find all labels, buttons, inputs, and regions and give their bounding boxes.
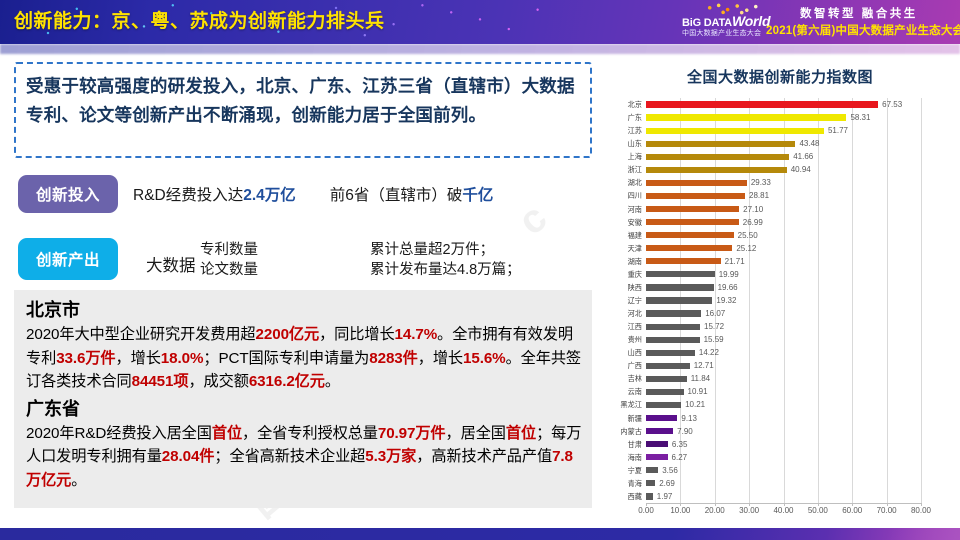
chart-bar-row: 湖北29.33 [600, 176, 960, 189]
chart-plot-area: 北京67.53广东58.31江苏51.77山东43.48上海41.66浙江40.… [600, 98, 960, 540]
region-detail-text: ，居全国 [446, 425, 506, 442]
chart-bar [646, 376, 687, 382]
chart-category-label: 湖南 [600, 255, 642, 268]
chart-bar-row: 江苏51.77 [600, 124, 960, 137]
chart-category-label: 内蒙古 [600, 425, 642, 438]
output-metric-papers: 论文数量 [200, 260, 258, 280]
chart-category-label: 新疆 [600, 412, 642, 425]
chart-bar-value: 26.99 [743, 216, 763, 229]
region-detail-highlight: 15.6% [463, 350, 506, 367]
chart-bar-value: 21.71 [725, 255, 745, 268]
output-keyword: 大数据 [146, 252, 196, 276]
chart-bar-value: 9.13 [681, 412, 697, 425]
region-detail-highlight: 6316.2亿元 [249, 373, 325, 390]
chart-title: 全国大数据创新能力指数图 [600, 66, 960, 87]
chart-bar [646, 232, 734, 238]
region-detail-highlight: 33.6万件 [56, 350, 115, 367]
region-detail-highlight: 首位 [506, 425, 536, 442]
chart-category-label: 重庆 [600, 268, 642, 281]
chart-bar-row: 辽宁19.32 [600, 294, 960, 307]
output-results-column: 累计总量超2万件； 累计发布量达4.8万篇； [370, 240, 521, 280]
chart-category-label: 云南 [600, 385, 642, 398]
chart-bar-value: 40.94 [791, 163, 811, 176]
chart-bar-value: 7.90 [677, 425, 693, 438]
chart-bar-value: 15.72 [704, 320, 724, 333]
chart-bar-row: 贵州15.59 [600, 333, 960, 346]
badge-innovation-investment: 创新投入 [18, 175, 118, 213]
region-detail-paragraph: 2020年R&D经费投入居全国首位，全省专利授权总量70.97万件，居全国首位；… [26, 422, 582, 493]
chart-bar-row: 广东58.31 [600, 111, 960, 124]
chart-category-label: 安徽 [600, 216, 642, 229]
investment-value-a: 2.4万亿 [243, 187, 296, 204]
logo-subtitle: 中国大数据产业生态大会 [682, 28, 761, 38]
chart-category-label: 湖北 [600, 176, 642, 189]
region-detail-heading: 北京市 [26, 298, 582, 322]
chart-bar-value: 29.33 [751, 176, 771, 189]
conference-slogan-line1: 数智转型 融合共生 [800, 5, 918, 21]
chart-category-label: 江西 [600, 320, 642, 333]
chart-bar-row: 山西14.22 [600, 346, 960, 359]
chart-tick-label: 10.00 [670, 506, 690, 515]
chart-bar-row: 上海41.66 [600, 150, 960, 163]
chart-bar-value: 25.50 [738, 229, 758, 242]
region-detail-text: 。 [325, 373, 340, 390]
chart-bar-value: 10.91 [688, 385, 708, 398]
chart-category-label: 山西 [600, 346, 642, 359]
conference-slogan-line2: 2021(第六届)中国大数据产业生态大会 [766, 22, 960, 38]
chart-bar-row: 吉林11.84 [600, 372, 960, 385]
chart-bar-value: 1.97 [657, 490, 673, 503]
region-detail-text: ，全省专利授权总量 [242, 425, 378, 442]
investment-summary-line: R&D经费投入达2.4万亿前6省（直辖市）破千亿 [133, 183, 493, 205]
chart-bar-row: 天津25.12 [600, 242, 960, 255]
chart-tick-label: 80.00 [911, 506, 931, 515]
output-metrics-column: 专利数量 论文数量 [200, 240, 258, 280]
chart-bar-row: 甘肃6.35 [600, 438, 960, 451]
chart-category-label: 上海 [600, 150, 642, 163]
output-result-papers: 累计发布量达4.8万篇； [370, 260, 521, 280]
chart-bar-value: 43.48 [799, 137, 819, 150]
chart-bar [646, 467, 658, 473]
chart-category-label: 四川 [600, 189, 642, 202]
region-detail-text: 2020年大中型企业研究开发费用超 [26, 326, 256, 343]
slide-header: 创新能力：京、粤、苏成为创新能力排头兵 BiG DATAWorld 中国大数据产… [0, 0, 960, 44]
region-detail-highlight: 8283件 [369, 350, 417, 367]
chart-bar [646, 480, 655, 486]
chart-bar-row: 海南6.27 [600, 451, 960, 464]
chart-bar-value: 16.07 [705, 307, 725, 320]
chart-bar-value: 10.21 [685, 398, 705, 411]
chart-bar-value: 28.81 [749, 189, 769, 202]
chart-category-label: 海南 [600, 451, 642, 464]
region-detail-highlight: 18.0% [161, 350, 204, 367]
chart-bar-value: 67.53 [882, 98, 902, 111]
chart-category-label: 河北 [600, 307, 642, 320]
chart-category-label: 北京 [600, 98, 642, 111]
region-detail-text: ；PCT国际专利申请量为 [203, 350, 369, 367]
chart-category-label: 甘肃 [600, 438, 642, 451]
region-detail-highlight: 5.3万家 [365, 448, 416, 465]
chart-bar-value: 3.56 [662, 464, 678, 477]
chart-category-label: 福建 [600, 229, 642, 242]
chart-bar-row: 湖南21.71 [600, 255, 960, 268]
chart-bar [646, 101, 878, 107]
chart-category-label: 山东 [600, 137, 642, 150]
chart-bar-value: 19.66 [718, 281, 738, 294]
chart-tick-label: 40.00 [773, 506, 793, 515]
investment-value-b: 千亿 [462, 187, 493, 204]
chart-bar-row: 云南10.91 [600, 385, 960, 398]
chart-bar-row: 广西12.71 [600, 359, 960, 372]
region-detail-text: 2020年R&D经费投入居全国 [26, 425, 212, 442]
logo-world-text: World [732, 13, 770, 29]
chart-tick-label: 60.00 [842, 506, 862, 515]
chart-bar-row: 西藏1.97 [600, 490, 960, 503]
badge-innovation-output: 创新产出 [18, 238, 118, 280]
chart-category-label: 贵州 [600, 333, 642, 346]
investment-text-a: R&D经费投入达 [133, 187, 243, 204]
chart-bar-row: 新疆9.13 [600, 412, 960, 425]
chart-bar-row: 四川28.81 [600, 189, 960, 202]
chart-bar-row: 内蒙古7.90 [600, 425, 960, 438]
region-detail-text: ，同比增长 [319, 326, 394, 343]
chart-bar [646, 454, 668, 460]
chart-bar [646, 258, 721, 264]
chart-bar-row: 浙江40.94 [600, 163, 960, 176]
chart-bar-value: 41.66 [793, 150, 813, 163]
chart-bar [646, 297, 712, 303]
region-detail-highlight: 首位 [212, 425, 242, 442]
chart-category-label: 广东 [600, 111, 642, 124]
chart-category-label: 河南 [600, 203, 642, 216]
region-detail-text: ，增长 [116, 350, 161, 367]
chart-bar [646, 128, 824, 134]
chart-category-label: 青海 [600, 477, 642, 490]
output-result-patents: 累计总量超2万件； [370, 240, 521, 260]
chart-bar [646, 324, 700, 330]
chart-bar-row: 河北16.07 [600, 307, 960, 320]
region-detail-text: ；全省高新技术企业超 [214, 448, 365, 465]
chart-bar [646, 141, 795, 147]
watermark-text-3: c [510, 196, 556, 245]
chart-bar-row: 江西15.72 [600, 320, 960, 333]
chart-tick-label: 0.00 [638, 506, 654, 515]
chart-bar [646, 428, 673, 434]
region-detail-highlight: 2200亿元 [256, 326, 320, 343]
chart-x-axis-ticks: 0.0010.0020.0030.0040.0050.0060.0070.008… [600, 506, 960, 522]
chart-tick-label: 50.00 [808, 506, 828, 515]
chart-bar-row: 山东43.48 [600, 137, 960, 150]
chart-bar [646, 363, 690, 369]
header-gradient-fade [0, 44, 960, 54]
region-detail-highlight: 14.7% [395, 326, 438, 343]
chart-bar [646, 114, 846, 120]
chart-bar-value: 25.12 [736, 242, 756, 255]
chart-bar [646, 350, 695, 356]
chart-bar [646, 337, 700, 343]
chart-category-label: 辽宁 [600, 294, 642, 307]
chart-tick-label: 20.00 [705, 506, 725, 515]
chart-bar-value: 19.32 [716, 294, 736, 307]
chart-bar [646, 310, 701, 316]
chart-category-label: 浙江 [600, 163, 642, 176]
chart-bar-value: 58.31 [850, 111, 870, 124]
page-title: 创新能力：京、粤、苏成为创新能力排头兵 [14, 6, 385, 33]
chart-bar [646, 219, 739, 225]
chart-bar-value: 14.22 [699, 346, 719, 359]
chart-category-label: 黑龙江 [600, 398, 642, 411]
chart-bar-row: 北京67.53 [600, 98, 960, 111]
chart-bar-row: 福建25.50 [600, 229, 960, 242]
chart-bar-row: 黑龙江10.21 [600, 398, 960, 411]
chart-category-label: 吉林 [600, 372, 642, 385]
region-details-box: 北京市2020年大中型企业研究开发费用超2200亿元，同比增长14.7%。全市拥… [14, 290, 592, 508]
slide: 创新能力：京、粤、苏成为创新能力排头兵 BiG DATAWorld 中国大数据产… [0, 0, 960, 540]
chart-bar-value: 12.71 [694, 359, 714, 372]
chart-bar-row: 安徽26.99 [600, 216, 960, 229]
chart-bar [646, 284, 714, 290]
region-detail-text: 。 [71, 472, 86, 489]
chart-bar [646, 493, 653, 499]
region-detail-text: ，高新技术产品产值 [416, 448, 552, 465]
chart-bar-value: 6.35 [672, 438, 688, 451]
region-detail-highlight: 28.04件 [162, 448, 215, 465]
region-detail-highlight: 70.97万件 [378, 425, 446, 442]
chart-bar-row: 陕西19.66 [600, 281, 960, 294]
summary-callout-box: 受惠于较高强度的研发投入，北京、广东、江苏三省（直辖市）大数据专利、论文等创新产… [14, 62, 592, 158]
chart-category-label: 天津 [600, 242, 642, 255]
logo-wordmark: BiG DATAWorld [682, 13, 770, 29]
summary-callout-text: 受惠于较高强度的研发投入，北京、广东、江苏三省（直辖市）大数据专利、论文等创新产… [16, 64, 590, 130]
chart-category-label: 广西 [600, 359, 642, 372]
region-detail-text: ，增长 [418, 350, 463, 367]
chart-bar [646, 206, 739, 212]
investment-text-b: 前6省（直辖市）破 [330, 187, 463, 204]
region-detail-highlight: 84451项 [132, 373, 189, 390]
chart-bar-value: 2.69 [659, 477, 675, 490]
chart-bar [646, 245, 732, 251]
chart-bar-value: 6.27 [672, 451, 688, 464]
chart-bar-row: 河南27.10 [600, 203, 960, 216]
region-detail-heading: 广东省 [26, 397, 582, 421]
region-detail-paragraph: 2020年大中型企业研究开发费用超2200亿元，同比增长14.7%。全市拥有有效… [26, 323, 582, 394]
chart-tick-label: 70.00 [877, 506, 897, 515]
chart-bar [646, 271, 715, 277]
chart-bar [646, 441, 668, 447]
chart-bar [646, 180, 747, 186]
chart-category-label: 江苏 [600, 124, 642, 137]
chart-bar-value: 11.84 [691, 372, 710, 385]
chart-category-label: 宁夏 [600, 464, 642, 477]
chart-bar [646, 167, 787, 173]
chart-bar-value: 19.99 [719, 268, 739, 281]
chart-bar-value: 51.77 [828, 124, 848, 137]
chart-category-label: 陕西 [600, 281, 642, 294]
chart-tick-label: 30.00 [739, 506, 759, 515]
chart-bar-row: 重庆19.99 [600, 268, 960, 281]
chart-bar-value: 27.10 [743, 203, 763, 216]
chart-bar-row: 宁夏3.56 [600, 464, 960, 477]
chart-bar [646, 402, 681, 408]
region-detail-text: ，成交额 [188, 373, 248, 390]
chart-bar-rows: 北京67.53广东58.31江苏51.77山东43.48上海41.66浙江40.… [600, 98, 960, 503]
chart-bar-row: 青海2.69 [600, 477, 960, 490]
innovation-index-chart: 全国大数据创新能力指数图 北京67.53广东58.31江苏51.77山东43.4… [600, 58, 960, 516]
output-metric-patents: 专利数量 [200, 240, 258, 260]
chart-bar-value: 15.59 [704, 333, 724, 346]
chart-bar [646, 154, 789, 160]
region-details-list: 北京市2020年大中型企业研究开发费用超2200亿元，同比增长14.7%。全市拥… [26, 298, 582, 492]
chart-bar [646, 193, 745, 199]
footer-accent-decoration [840, 528, 960, 540]
chart-bar [646, 415, 677, 421]
slide-footer-bar [0, 528, 960, 540]
chart-category-label: 西藏 [600, 490, 642, 503]
chart-bar [646, 389, 684, 395]
